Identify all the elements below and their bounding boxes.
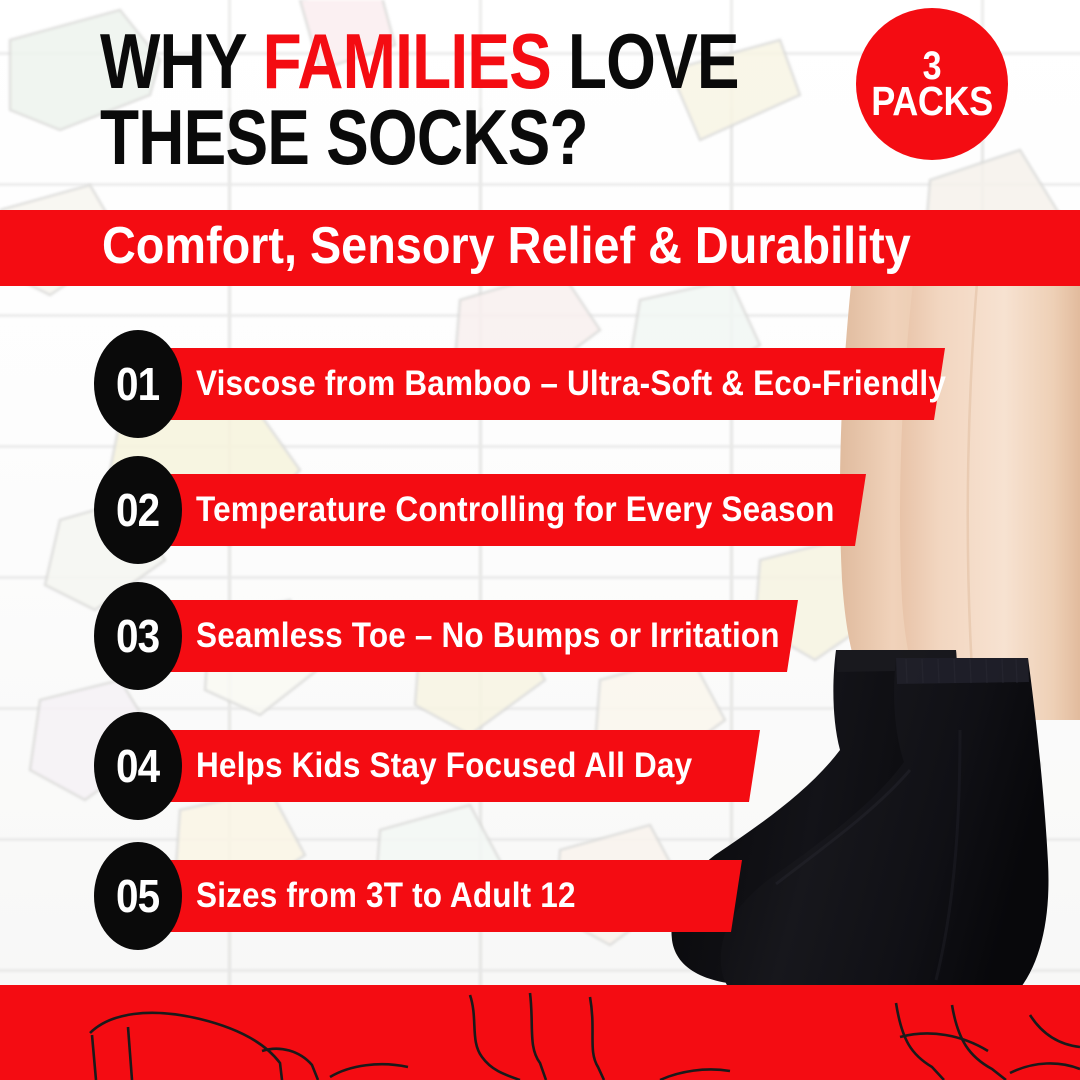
headline-line-2: THESE SOCKS? [100, 102, 674, 174]
feature-number: 02 [116, 483, 159, 537]
subtitle-banner: Comfort, Sensory Relief & Durability [0, 210, 1080, 286]
feature-number-badge: 03 [94, 582, 182, 690]
feature-text: Seamless Toe – No Bumps or Irritation [196, 616, 780, 656]
feature-number-badge: 01 [94, 330, 182, 438]
feature-number-badge: 04 [94, 712, 182, 820]
feature-text: Temperature Controlling for Every Season [196, 490, 835, 530]
leg-front [900, 240, 1080, 720]
subtitle-text: Comfort, Sensory Relief & Durability [102, 216, 911, 276]
headline-part-2: LOVE [551, 17, 739, 105]
sock-outline-line-art [0, 985, 1080, 1080]
headline-part-1: WHY [100, 17, 263, 105]
feature-number: 01 [116, 357, 159, 411]
pack-count-badge: 3 PACKS [856, 8, 1008, 160]
infographic-canvas: WHY FAMILIES LOVE THESE SOCKS? 3 PACKS C… [0, 0, 1080, 1080]
feature-text: Helps Kids Stay Focused All Day [196, 746, 692, 786]
feature-text: Viscose from Bamboo – Ultra-Soft & Eco-F… [196, 364, 946, 404]
feature-number: 04 [116, 739, 159, 793]
pack-count-label: PACKS [871, 84, 992, 119]
feature-text: Sizes from 3T to Adult 12 [196, 876, 576, 916]
feature-number: 03 [116, 609, 159, 663]
feature-number-badge: 02 [94, 456, 182, 564]
headline-highlight: FAMILIES [263, 17, 551, 105]
page-title: WHY FAMILIES LOVE THESE SOCKS? [100, 26, 674, 174]
feature-number: 05 [116, 869, 159, 923]
feature-number-badge: 05 [94, 842, 182, 950]
bottom-banner [0, 985, 1080, 1080]
